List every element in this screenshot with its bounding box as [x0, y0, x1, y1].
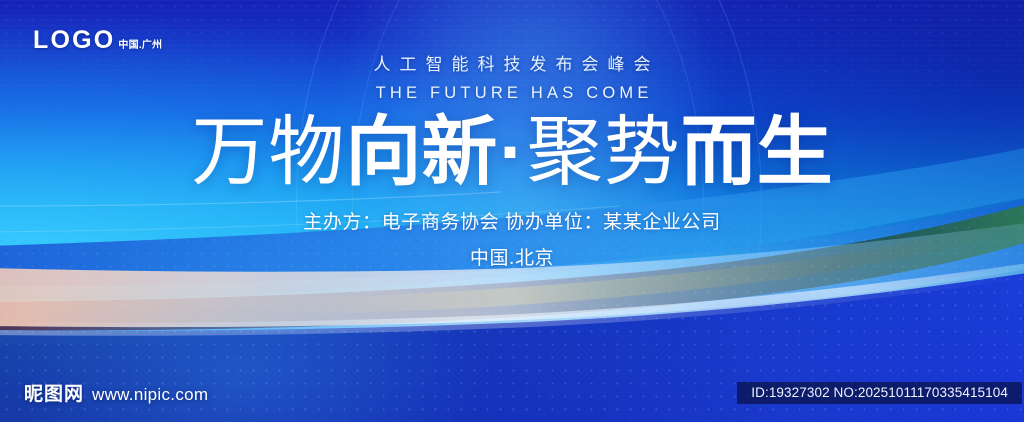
organizer-place: 中国.北京 [0, 243, 1024, 270]
headline-part-2: 向新 [345, 110, 497, 195]
poster-canvas: LOGO 中国.广州 人工智能科技发布会峰会 THE FUTURE HAS CO… [0, 0, 1024, 422]
headline-part-3: 聚势 [527, 110, 681, 195]
organizer-block: 主办方：电子商务协会 协办单位：某某企业公司 中国.北京 [0, 207, 1024, 270]
headline-separator: · [497, 110, 526, 195]
watermark-url: www.nipic.com [92, 385, 208, 405]
watermark-brand: 昵图网 [24, 379, 84, 406]
event-kicker: 人工智能科技发布会峰会 THE FUTURE HAS COME [0, 50, 1024, 103]
id-badge: ID:19327302 NO:20251011170335415104 [737, 382, 1022, 404]
main-headline: 万物向新·聚势而生 [0, 112, 1024, 194]
headline-part-1: 万物 [191, 110, 345, 195]
kicker-english: THE FUTURE HAS COME [0, 84, 1024, 103]
kicker-chinese: 人工智能科技发布会峰会 [0, 50, 1024, 75]
headline-part-4: 而生 [681, 110, 833, 195]
site-watermark: 昵图网 www.nipic.com [24, 379, 208, 406]
organizer-line: 主办方：电子商务协会 协办单位：某某企业公司 [0, 207, 1024, 234]
